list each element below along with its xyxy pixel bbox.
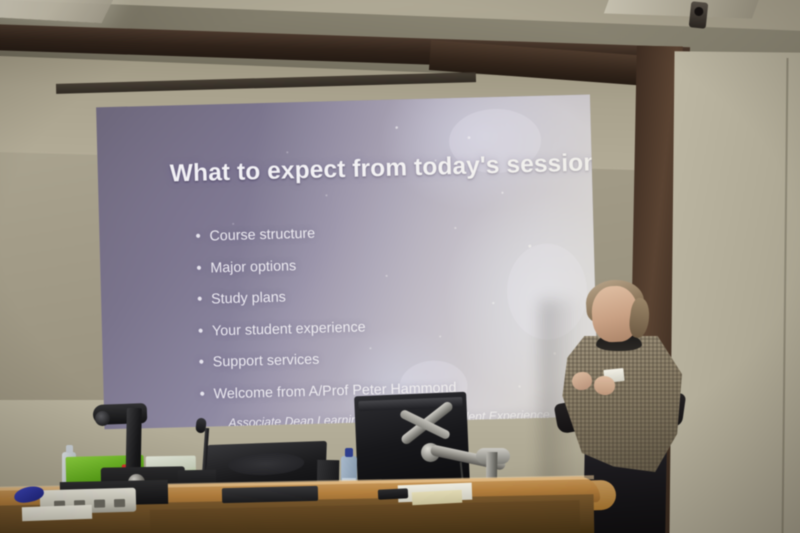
wall-camera-icon — [689, 1, 709, 29]
presentation-slide: What to expect from today's session • Co… — [96, 94, 598, 429]
remote-control[interactable] — [378, 488, 408, 500]
bullet-dot-icon: • — [198, 323, 212, 338]
keyboard[interactable] — [222, 486, 318, 503]
slide-bullet-list: • Course structure • Major options • Stu… — [195, 218, 598, 418]
bullet-text: Course structure — [209, 226, 315, 245]
bullet-dot-icon: • — [199, 355, 213, 370]
list-item: • Study plans — [197, 282, 597, 308]
bullet-text: Study plans — [211, 290, 286, 308]
bullet-dot-icon: • — [196, 260, 210, 275]
bullet-dot-icon: • — [197, 292, 211, 307]
slide-title: What to expect from today's session — [170, 150, 571, 188]
bullet-dot-icon: • — [195, 228, 209, 243]
bullet-text: Major options — [210, 258, 296, 276]
right-wall-panel — [669, 51, 800, 533]
projection-screen: What to expect from today's session • Co… — [50, 78, 559, 431]
list-item: • Major options — [196, 250, 596, 276]
paper-sheet-left — [22, 505, 92, 521]
bullet-text: Support services — [213, 352, 320, 371]
camera-lens-icon — [95, 411, 110, 426]
panel-port — [94, 500, 105, 508]
panel-port — [114, 499, 125, 507]
lecture-theatre-photo: What to expect from today's session • Co… — [0, 0, 800, 533]
list-item: • Your student experience — [198, 313, 598, 339]
bullet-text: Your student experience — [212, 319, 366, 339]
list-item: • Course structure — [195, 218, 595, 244]
paper-sheet-centre-2 — [412, 490, 463, 506]
list-item: • Support services — [199, 345, 599, 371]
bullet-dot-icon: • — [199, 386, 213, 401]
